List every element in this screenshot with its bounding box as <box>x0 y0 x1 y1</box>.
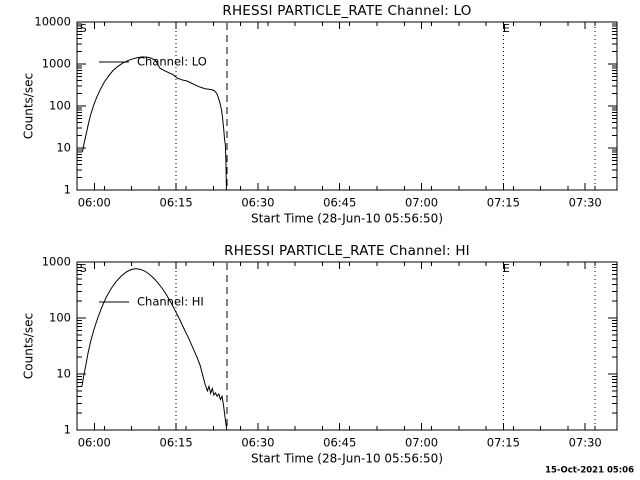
x-tick-label: 07:00 <box>405 196 438 210</box>
y-axis-label: Counts/sec <box>22 313 36 379</box>
x-axis-label: Start Time (28-Jun-10 05:56:50) <box>251 212 443 226</box>
y-tick-label: 1 <box>64 183 71 197</box>
y-tick-label: 10 <box>56 367 71 381</box>
panel-title: RHESSI PARTICLE_RATE Channel: HI <box>224 243 470 259</box>
x-tick-label: 06:00 <box>78 196 111 210</box>
x-tick-label: 07:00 <box>405 436 438 450</box>
x-tick-label: 07:15 <box>487 436 520 450</box>
y-tick-label: 100 <box>49 99 71 113</box>
plot-canvas: RHESSI PARTICLE_RATE Channel: LO11010010… <box>0 0 640 480</box>
x-tick-label: 06:45 <box>323 436 356 450</box>
x-tick-label: 06:30 <box>241 196 274 210</box>
y-tick-label: 10000 <box>34 15 71 29</box>
x-axis-label: Start Time (28-Jun-10 05:56:50) <box>251 452 443 466</box>
y-axis-label: Counts/sec <box>22 73 36 139</box>
y-tick-label: 1000 <box>42 255 71 269</box>
legend-label: Channel: LO <box>137 55 207 69</box>
panel-title: RHESSI PARTICLE_RATE Channel: LO <box>222 3 471 19</box>
x-tick-label: 06:15 <box>160 196 193 210</box>
x-tick-label: 06:45 <box>323 196 356 210</box>
x-tick-label: 07:15 <box>487 196 520 210</box>
x-tick-label: 06:15 <box>160 436 193 450</box>
y-tick-label: 100 <box>49 311 71 325</box>
y-tick-label: 1000 <box>42 57 71 71</box>
annotation-marker-e: E <box>503 262 510 275</box>
y-tick-label: 1 <box>64 423 71 437</box>
annotation-marker-s: S <box>80 22 87 35</box>
x-tick-label: 06:30 <box>241 436 274 450</box>
figure-root: RHESSI PARTICLE_RATE Channel: LO11010010… <box>0 0 640 480</box>
annotation-marker-e: E <box>503 22 510 35</box>
annotation-marker-s: S <box>80 262 87 275</box>
x-tick-label: 07:30 <box>569 436 602 450</box>
x-tick-label: 06:00 <box>78 436 111 450</box>
render-timestamp: 15-Oct-2021 05:06 <box>545 466 634 476</box>
figure-background <box>0 0 640 480</box>
legend-label: Channel: HI <box>137 295 204 309</box>
x-tick-label: 07:30 <box>569 196 602 210</box>
y-tick-label: 10 <box>56 141 71 155</box>
